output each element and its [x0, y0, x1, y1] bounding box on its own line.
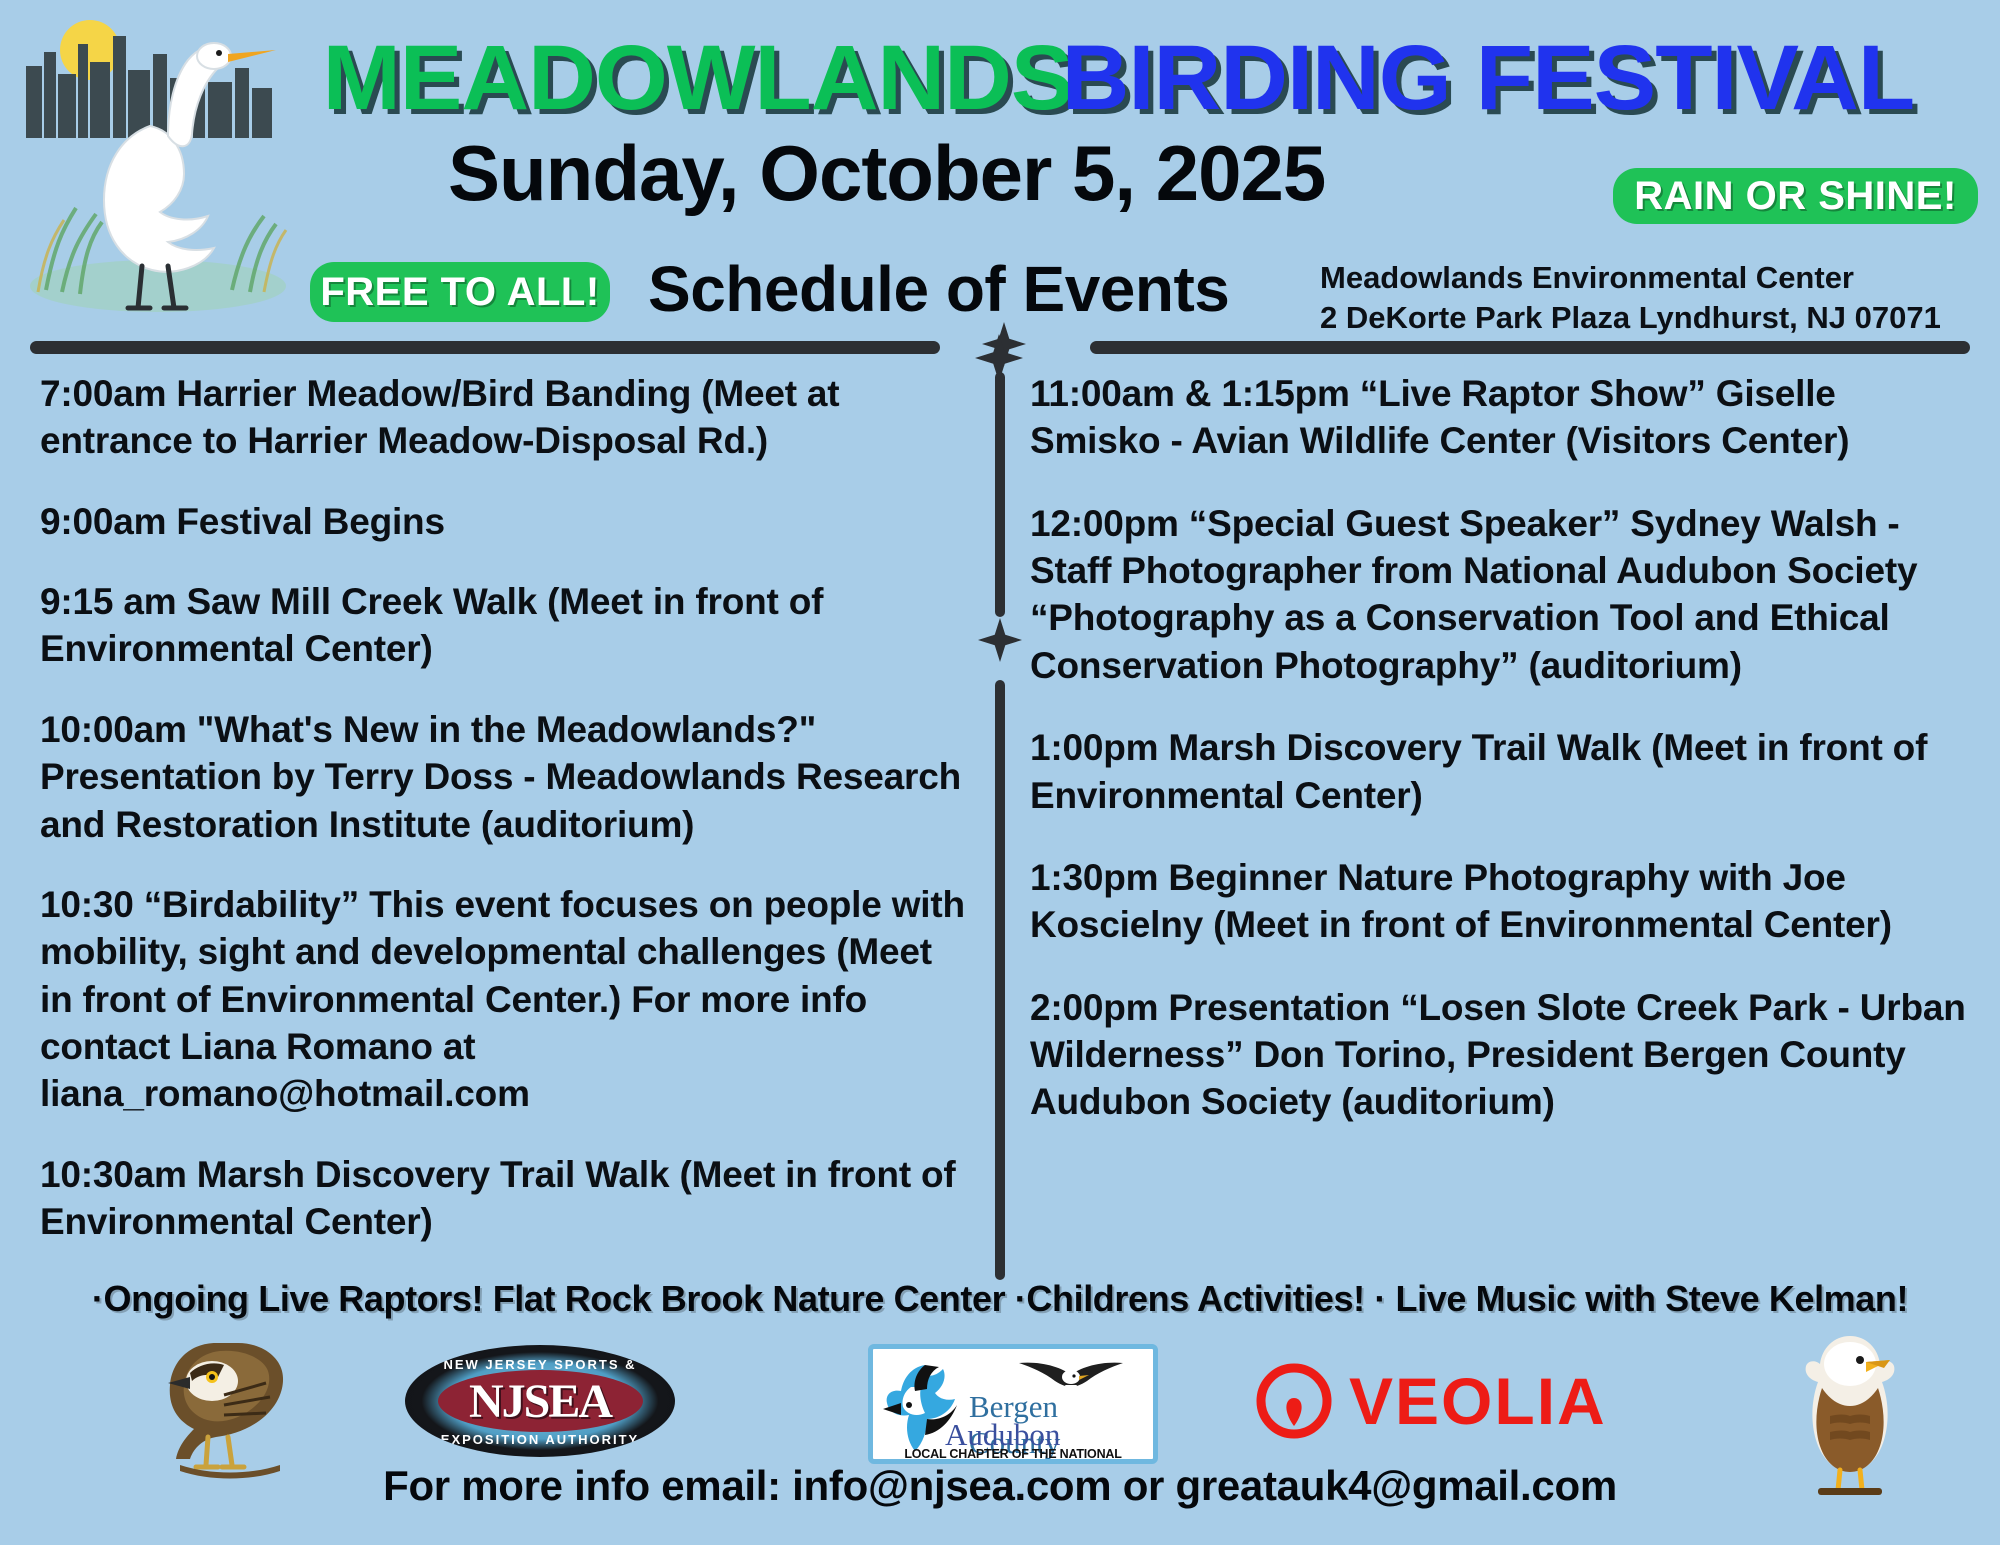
bergen-county-audubon-logo: Bergen County Audubon Society LOCAL CHAP…: [868, 1344, 1158, 1464]
schedule-item: 10:30am Marsh Discovery Trail Walk (Meet…: [40, 1151, 965, 1246]
schedule-item: 1:00pm Marsh Discovery Trail Walk (Meet …: [1030, 724, 1970, 819]
osprey-illustration: [120, 1325, 340, 1485]
venue-line-2: 2 DeKorte Park Plaza Lyndhurst, NJ 07071: [1320, 298, 1941, 338]
schedule-left-column: 7:00am Harrier Meadow/Bird Banding (Meet…: [40, 370, 965, 1278]
egret-illustration: [18, 8, 308, 318]
veolia-mark-icon: [1255, 1362, 1333, 1440]
schedule-item: 10:00am "What's New in the Meadowlands?"…: [40, 706, 965, 848]
njsea-logo-top-text: NEW JERSEY SPORTS &: [405, 1357, 675, 1372]
veolia-wordmark: VEOLIA: [1349, 1363, 1607, 1439]
rain-or-shine-badge: RAIN OR SHINE!: [1613, 168, 1978, 224]
schedule-of-events-title: Schedule of Events: [648, 252, 1229, 326]
njsea-logo-center: NJSEA: [438, 1370, 643, 1432]
schedule-item: 10:30 “Birdability” This event focuses o…: [40, 881, 965, 1118]
schedule-item: 2:00pm Presentation “Losen Slote Creek P…: [1030, 984, 1970, 1126]
contact-email-line: For more info email: info@njsea.com or g…: [0, 1462, 2000, 1510]
divider-right-bar: [1090, 341, 1970, 354]
schedule-item: 1:30pm Beginner Nature Photography with …: [1030, 854, 1970, 949]
schedule-item: 9:15 am Saw Mill Creek Walk (Meet in fro…: [40, 578, 965, 673]
schedule-item: 9:00am Festival Begins: [40, 498, 965, 545]
njsea-logo-wordmark: NJSEA: [469, 1374, 611, 1429]
festival-title: MEADOWLANDS BIRDING FESTIVAL: [330, 26, 1905, 131]
schedule-right-column: 11:00am & 1:15pm “Live Raptor Show” Gise…: [1030, 370, 1970, 1161]
njsea-logo-bottom-text: EXPOSITION AUTHORITY: [405, 1432, 675, 1447]
schedule-item: 7:00am Harrier Meadow/Bird Banding (Meet…: [40, 370, 965, 465]
venue-address: Meadowlands Environmental Center 2 DeKor…: [1320, 258, 1941, 337]
free-to-all-badge: FREE TO ALL!: [310, 262, 610, 322]
veolia-logo: VEOLIA: [1255, 1362, 1607, 1440]
poster-root: MEADOWLANDS BIRDING FESTIVAL Sunday, Oct…: [0, 0, 2000, 1545]
title-word-meadowlands: MEADOWLANDS: [323, 26, 1073, 131]
poster-header: MEADOWLANDS BIRDING FESTIVAL Sunday, Oct…: [0, 0, 2000, 340]
divider-left-bar: [30, 341, 940, 354]
njsea-logo: NEW JERSEY SPORTS & NJSEA EXPOSITION AUT…: [405, 1345, 675, 1457]
schedule-columns: 7:00am Harrier Meadow/Bird Banding (Meet…: [0, 370, 2000, 1275]
festival-date: Sunday, October 5, 2025: [448, 128, 1325, 219]
venue-line-1: Meadowlands Environmental Center: [1320, 258, 1941, 298]
schedule-item: 11:00am & 1:15pm “Live Raptor Show” Gise…: [1030, 370, 1970, 465]
schedule-item: 12:00pm “Special Guest Speaker” Sydney W…: [1030, 500, 1970, 689]
title-word-birding-festival: BIRDING FESTIVAL: [1061, 26, 1914, 131]
activities-tagline: ·Ongoing Live Raptors! Flat Rock Brook N…: [0, 1278, 2000, 1320]
